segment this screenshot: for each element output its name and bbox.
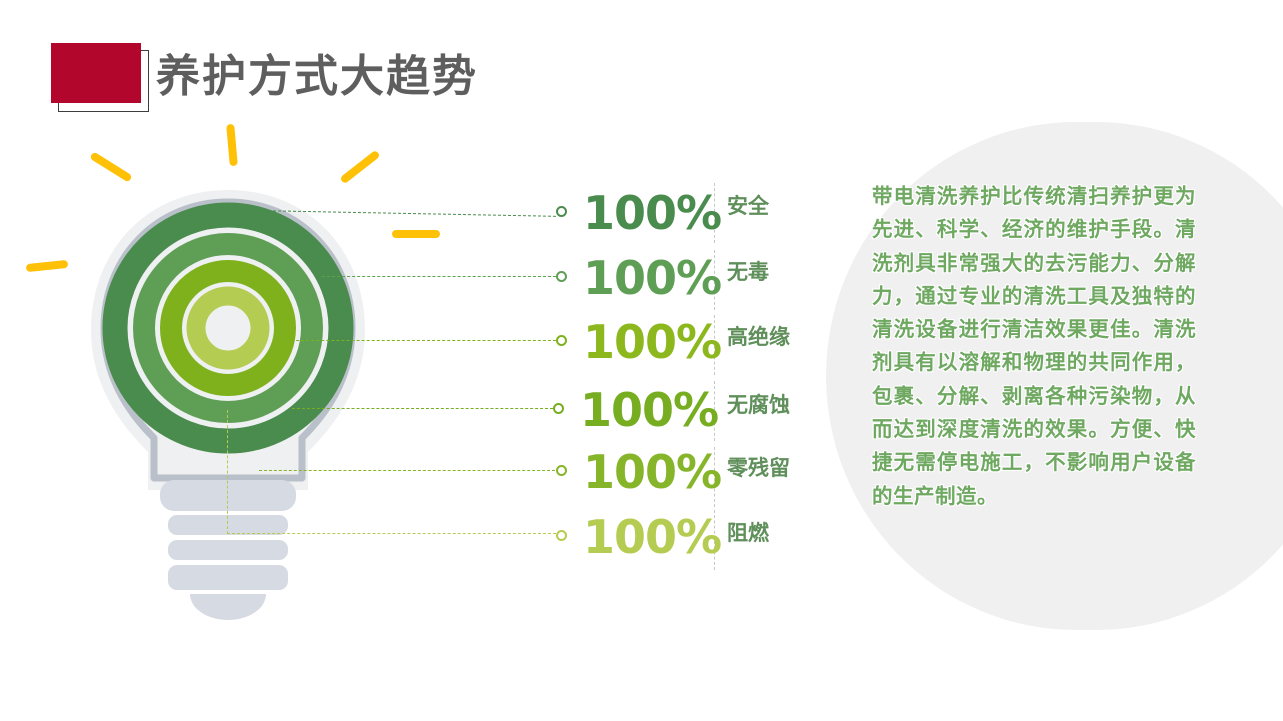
- metric-marker-2: [556, 271, 567, 282]
- slide-canvas: 养护方式大趋势 带电清洗养护比传统清扫养护更为先进、科学、经济的维护手段。清洗剂…: [0, 0, 1283, 721]
- metric-value-4: 100%: [580, 383, 718, 437]
- metric-marker-4: [553, 403, 564, 414]
- metric-marker-3: [556, 335, 567, 346]
- metric-label-3: 高绝缘: [727, 321, 790, 351]
- metric-label-1: 安全: [727, 190, 769, 220]
- metric-label-6: 阻燃: [727, 517, 769, 547]
- metric-label-5: 零残留: [727, 452, 790, 482]
- metric-marker-6: [556, 530, 567, 541]
- metric-value-5: 100%: [583, 445, 721, 499]
- metric-value-3: 100%: [583, 315, 721, 369]
- metric-marker-5: [556, 465, 567, 476]
- metric-marker-1: [556, 206, 567, 217]
- metric-label-2: 无毒: [727, 256, 769, 286]
- metric-value-1: 100%: [583, 186, 721, 240]
- metric-value-6: 100%: [583, 510, 721, 564]
- metric-value-2: 100%: [583, 251, 721, 305]
- metric-label-4: 无腐蚀: [727, 389, 790, 419]
- metrics-list: 100% 安全 100% 无毒 100% 高绝缘 100% 无腐蚀 100% 零…: [0, 0, 1283, 721]
